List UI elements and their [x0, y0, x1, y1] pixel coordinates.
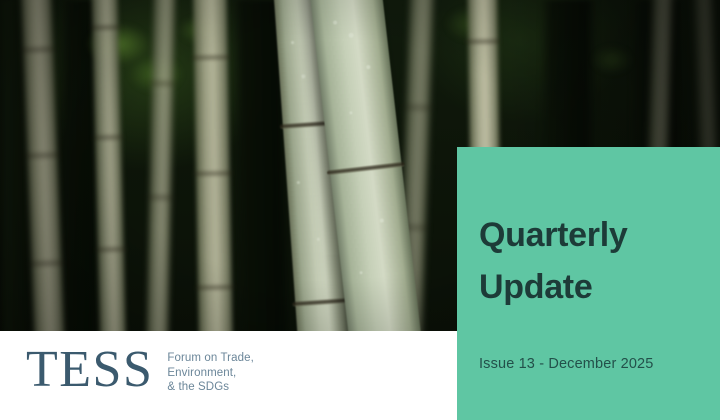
tess-logo[interactable]: TESS Forum on Trade, Environment, & the … — [26, 345, 254, 395]
page-title-line-2: Update — [479, 261, 720, 313]
tagline-line-1: Forum on Trade, — [167, 351, 254, 366]
title-panel: Quarterly Update — [457, 147, 720, 420]
tagline-line-3: & the SDGs — [167, 380, 254, 395]
tagline-line-2: Environment, — [167, 366, 254, 381]
newsletter-cover: Quarterly Update Issue 13 - December 202… — [0, 0, 720, 420]
issue-label: Issue 13 - December 2025 — [479, 356, 653, 372]
tess-wordmark: TESS — [26, 345, 153, 395]
tess-tagline: Forum on Trade, Environment, & the SDGs — [167, 351, 254, 395]
page-title: Quarterly Update — [479, 209, 720, 313]
page-title-line-1: Quarterly — [479, 209, 720, 261]
